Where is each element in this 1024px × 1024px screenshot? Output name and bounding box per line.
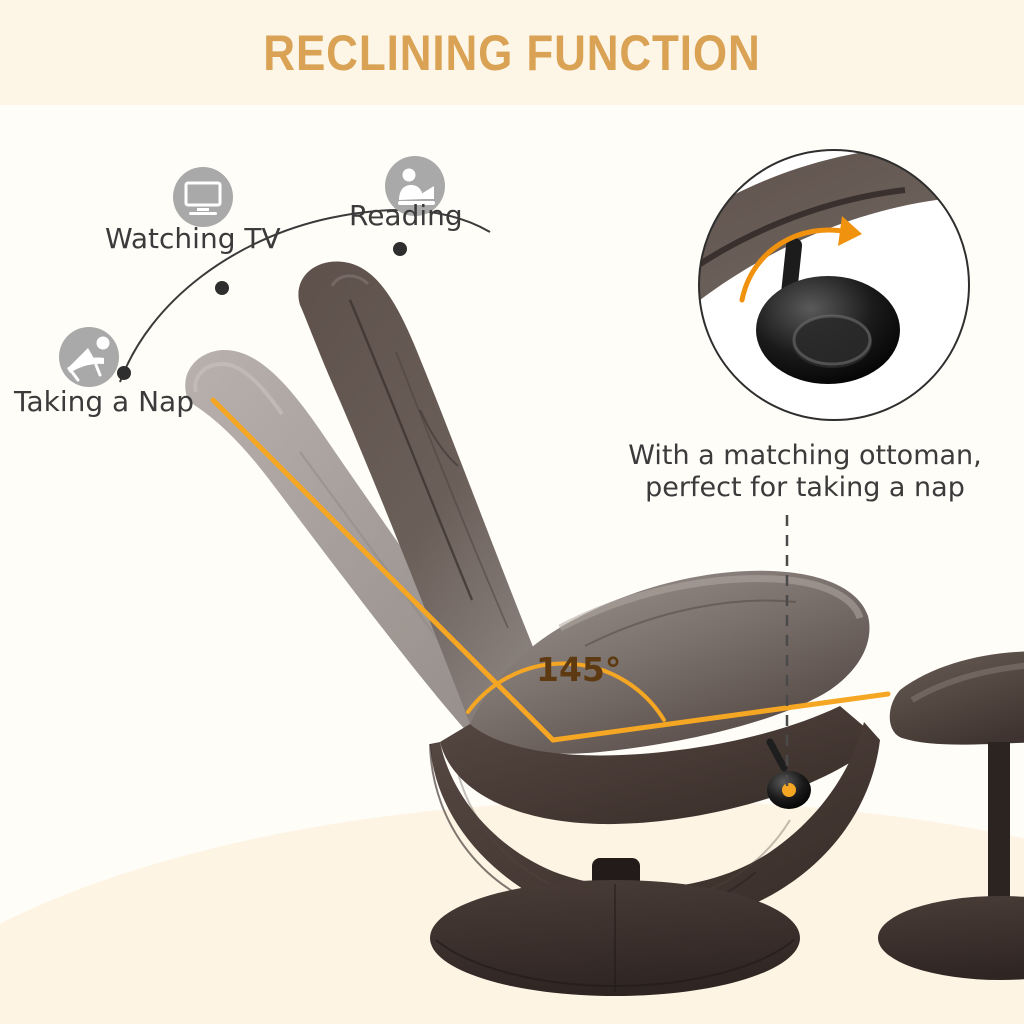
label-reading: Reading bbox=[349, 199, 463, 232]
product-illustration bbox=[0, 0, 1024, 1024]
ottoman-callout-text: With a matching ottoman, perfect for tak… bbox=[600, 440, 1010, 504]
arc-dot-nap bbox=[117, 366, 131, 380]
label-watching-tv: Watching TV bbox=[105, 222, 281, 255]
callout-line-1: With a matching ottoman, bbox=[600, 440, 1010, 472]
label-taking-a-nap: Taking a Nap bbox=[14, 385, 194, 418]
callout-line-2: perfect for taking a nap bbox=[600, 472, 1010, 504]
arc-dot-reading bbox=[393, 242, 407, 256]
television-icon bbox=[173, 167, 233, 227]
page-title: RECLINING FUNCTION bbox=[61, 24, 962, 82]
recline-angle-label: 145° bbox=[536, 650, 621, 689]
arc-dot-tv bbox=[215, 281, 229, 295]
knob-magnifier bbox=[650, 146, 980, 420]
ottoman bbox=[878, 651, 1024, 980]
infographic-canvas: RECLINING FUNCTION Watching TV Reading T… bbox=[0, 0, 1024, 1024]
reclining-person-icon bbox=[59, 327, 119, 387]
